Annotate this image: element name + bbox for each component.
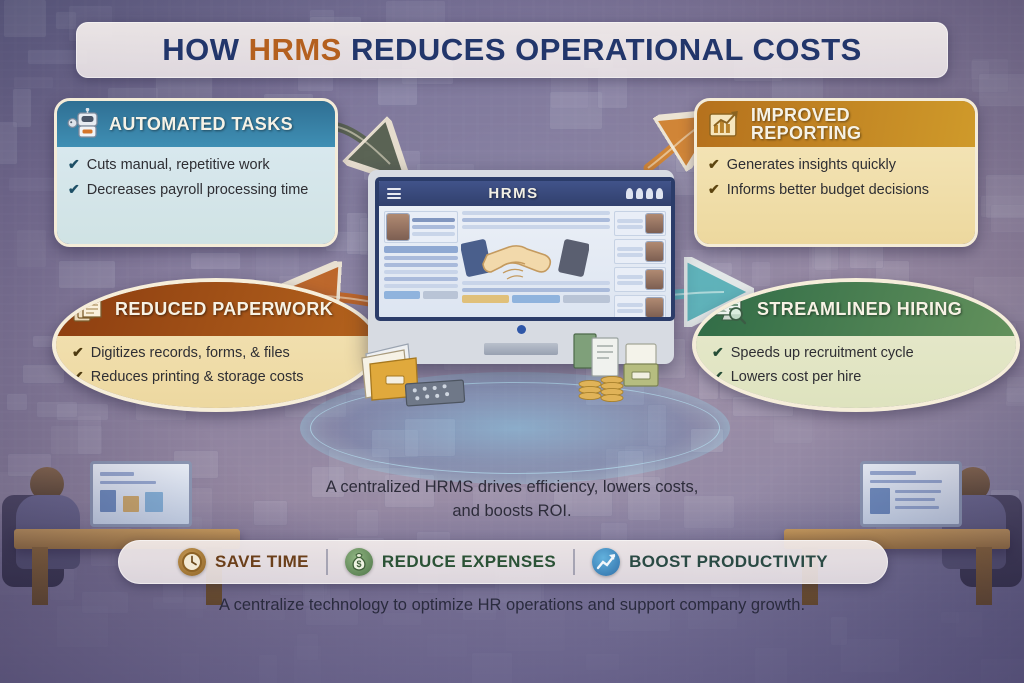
growth-arrow-icon [592, 548, 620, 576]
employee-row [614, 211, 666, 236]
avatar [646, 270, 663, 289]
bar-chart-arrow-icon [707, 108, 743, 140]
bullet-text: Reduces printing & storage costs [91, 368, 304, 386]
handshake-icon [461, 231, 589, 293]
check-icon: ✔ [712, 344, 724, 362]
bullet-text: Lowers cost per hire [731, 368, 862, 386]
monitor-stand [484, 343, 558, 355]
avatar [387, 214, 409, 240]
bullet-text: Cuts manual, repetitive work [87, 156, 270, 174]
hrms-brand-label: HRMS [488, 185, 538, 202]
bullet-text: Digitizes records, forms, & files [91, 344, 290, 362]
list-item: ✔ Generates insights quickly [708, 156, 964, 174]
benefits-bar: SAVE TIME $ REDUCE EXPENSES BOOST PRODUC [118, 540, 888, 584]
bullet-text: Generates insights quickly [727, 156, 896, 174]
clock-icon [178, 548, 206, 576]
list-item: ✔ Lowers cost per hire [712, 368, 1000, 386]
dashboard-right-column [614, 211, 666, 318]
card-header: AUTOMATED TASKS [57, 101, 335, 147]
dashboard-left-column [384, 211, 458, 318]
list-item: ✔ Digitizes records, forms, & files [72, 344, 360, 362]
card-automated-tasks[interactable]: AUTOMATED TASKS ✔ Cuts manual, repetitiv… [54, 98, 338, 247]
employee-row [614, 239, 666, 264]
hrms-screen: HRMS [375, 177, 675, 321]
avatar [646, 242, 663, 261]
title-after: REDUCES OPERATIONAL COSTS [342, 32, 862, 67]
card-body: ✔ Cuts manual, repetitive work ✔ Decreas… [57, 147, 335, 247]
monitor-power-dot [517, 325, 526, 334]
list-item: ✔ Speeds up recruitment cycle [712, 344, 1000, 362]
avatar [646, 298, 663, 317]
card-reduced-paperwork[interactable]: REDUCED PAPERWORK ✔ Digitizes records, f… [52, 278, 380, 412]
profile-row [384, 211, 458, 243]
check-icon: ✔ [708, 181, 720, 199]
list-item: ✔ Cuts manual, repetitive work [68, 156, 324, 174]
list-item: ✔ Decreases payroll processing time [68, 181, 324, 199]
files-and-coins [570, 330, 680, 410]
employee-row [614, 295, 666, 320]
check-icon: ✔ [72, 344, 84, 362]
title-bar: HOW HRMS REDUCES OPERATIONAL COSTS [76, 22, 948, 78]
page-title: HOW HRMS REDUCES OPERATIONAL COSTS [162, 32, 862, 68]
benefit-label: SAVE TIME [215, 552, 309, 572]
card-header: IMPROVED REPORTING [697, 101, 975, 147]
title-highlight: HRMS [249, 32, 342, 67]
bullet-text: Informs better budget decisions [727, 181, 929, 199]
svg-text:$: $ [356, 559, 361, 569]
benefit-label: BOOST PRODUCTIVITY [629, 552, 828, 572]
check-icon: ✔ [708, 156, 720, 174]
card-title: AUTOMATED TASKS [109, 115, 293, 133]
documents-folder-stack [360, 338, 480, 410]
bullet-text: Decreases payroll processing time [87, 181, 309, 199]
card-body: ✔ Generates insights quickly ✔ Informs b… [697, 147, 975, 247]
card-streamlined-hiring[interactable]: STREAMLINED HIRING ✔ Speeds up recruitme… [692, 278, 1020, 412]
card-title: STREAMLINED HIRING [757, 300, 962, 318]
avatar [646, 214, 663, 233]
bottom-caption: A centralize technology to optimize HR o… [0, 596, 1024, 615]
check-icon: ✔ [68, 156, 80, 174]
bullet-text: Speeds up recruitment cycle [731, 344, 914, 362]
benefit-reduce-expenses[interactable]: $ REDUCE EXPENSES [328, 548, 573, 576]
hrms-dashboard [379, 206, 671, 321]
benefit-save-time[interactable]: SAVE TIME [161, 548, 326, 576]
benefit-boost-productivity[interactable]: BOOST PRODUCTIVITY [575, 548, 845, 576]
benefit-label: REDUCE EXPENSES [382, 552, 556, 572]
infographic-canvas: HOW HRMS REDUCES OPERATIONAL COSTS AUTOM… [0, 0, 1024, 683]
card-title: IMPROVED REPORTING [751, 106, 965, 143]
employee-row [614, 267, 666, 292]
list-item: ✔ Informs better budget decisions [708, 181, 964, 199]
check-icon: ✔ [68, 181, 80, 199]
people-group-icon [626, 188, 663, 199]
hamburger-menu-icon[interactable] [387, 186, 401, 202]
robot-icon [67, 108, 101, 140]
card-improved-reporting[interactable]: IMPROVED REPORTING ✔ Generates insights … [694, 98, 978, 247]
list-item: ✔ Reduces printing & storage costs [72, 368, 360, 386]
card-title: REDUCED PAPERWORK [115, 300, 333, 318]
money-bag-icon: $ [345, 548, 373, 576]
hrms-app-bar: HRMS [379, 181, 671, 206]
title-before: HOW [162, 32, 248, 67]
center-tagline: A centralized HRMS drives efficiency, lo… [312, 476, 712, 524]
